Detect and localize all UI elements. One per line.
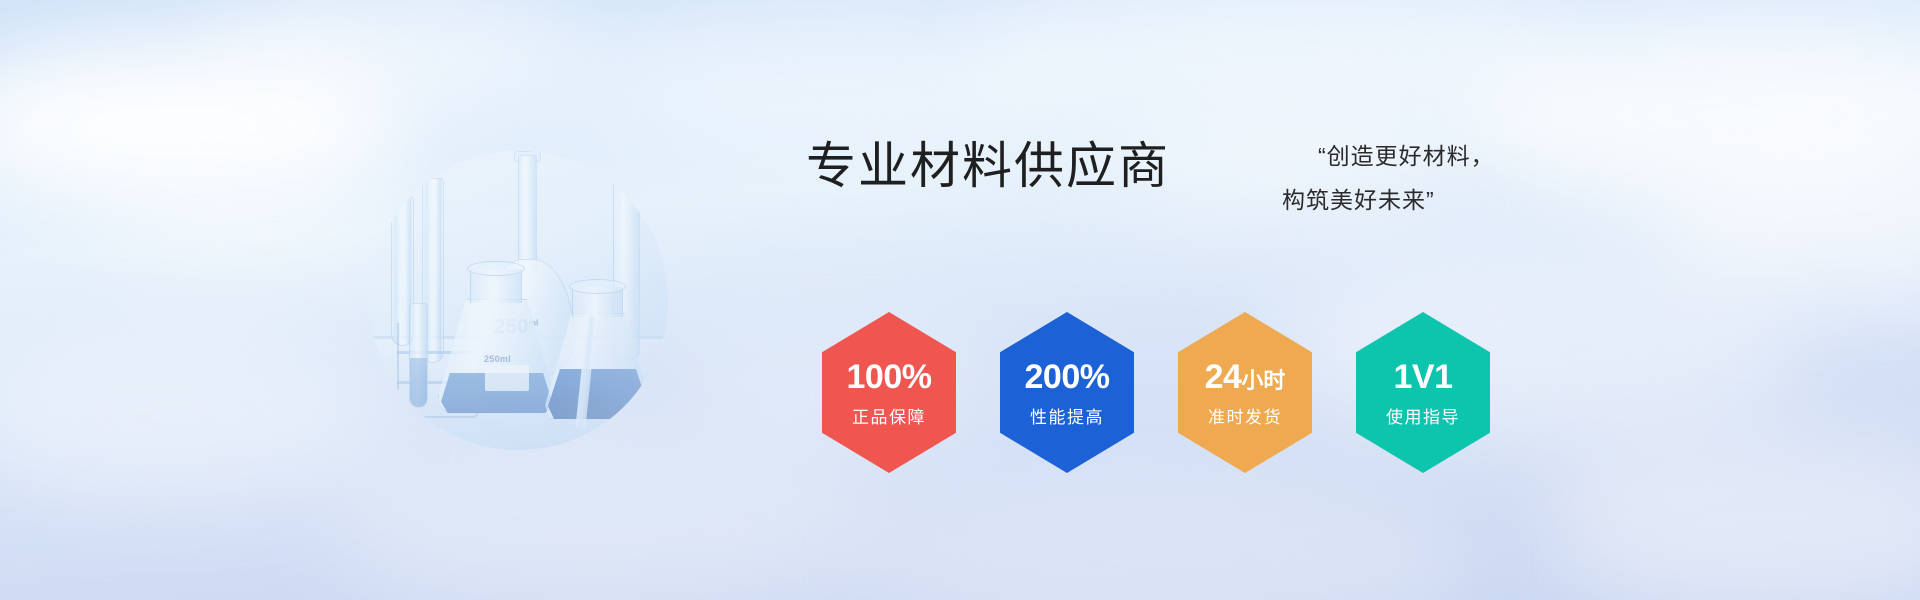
badge-value-number: 24 (1205, 358, 1242, 396)
hero-banner: 250ml 250ml 专业材料供应商 “创造更好材料， 构筑美好未来” 100… (0, 0, 1920, 600)
badge-value: 24小时 (1205, 360, 1286, 394)
lab-photo-circle: 250ml 250ml (369, 151, 668, 450)
badge-value: 200% (1025, 360, 1110, 394)
cloud-shape (330, 430, 890, 600)
feature-badge-performance[interactable]: 200% 性能提高 (1000, 312, 1134, 473)
page-title: 专业材料供应商 (806, 126, 1170, 198)
slogan-line-2: 构筑美好未来” (1282, 178, 1495, 222)
cloud-shape (860, 470, 1480, 600)
cloud-shape (0, 330, 390, 505)
feature-badge-list: 100% 正品保障 200% 性能提高 24小时 准时发货 1V1 使用指导 (822, 312, 1490, 473)
badge-value-number: 1V1 (1394, 358, 1453, 396)
cloud-shape (210, 0, 590, 130)
badge-caption: 性能提高 (1030, 409, 1104, 426)
cloud-shape (1650, 150, 1920, 310)
badge-value-number: 200% (1025, 358, 1110, 396)
cloud-shape (980, 0, 1580, 135)
photo-edge-fade (369, 151, 668, 450)
badge-caption: 使用指导 (1386, 409, 1460, 426)
slogan: “创造更好材料， 构筑美好未来” (1318, 134, 1495, 222)
cloud-shape (1540, 430, 1920, 600)
feature-badge-shipping[interactable]: 24小时 准时发货 (1178, 312, 1312, 473)
slogan-line-1: “创造更好材料， (1318, 134, 1495, 178)
badge-value-number: 100% (847, 358, 932, 396)
badge-value: 100% (847, 360, 932, 394)
badge-caption: 正品保障 (852, 409, 926, 426)
feature-badge-guidance[interactable]: 1V1 使用指导 (1356, 312, 1490, 473)
cloud-backdrop (0, 0, 1920, 600)
cloud-shape (0, 40, 400, 210)
badge-caption: 准时发货 (1208, 409, 1282, 426)
badge-value: 1V1 (1394, 360, 1453, 394)
badge-value-unit: 小时 (1241, 368, 1285, 393)
cloud-shape (1480, 20, 1920, 210)
feature-badge-quality[interactable]: 100% 正品保障 (822, 312, 956, 473)
